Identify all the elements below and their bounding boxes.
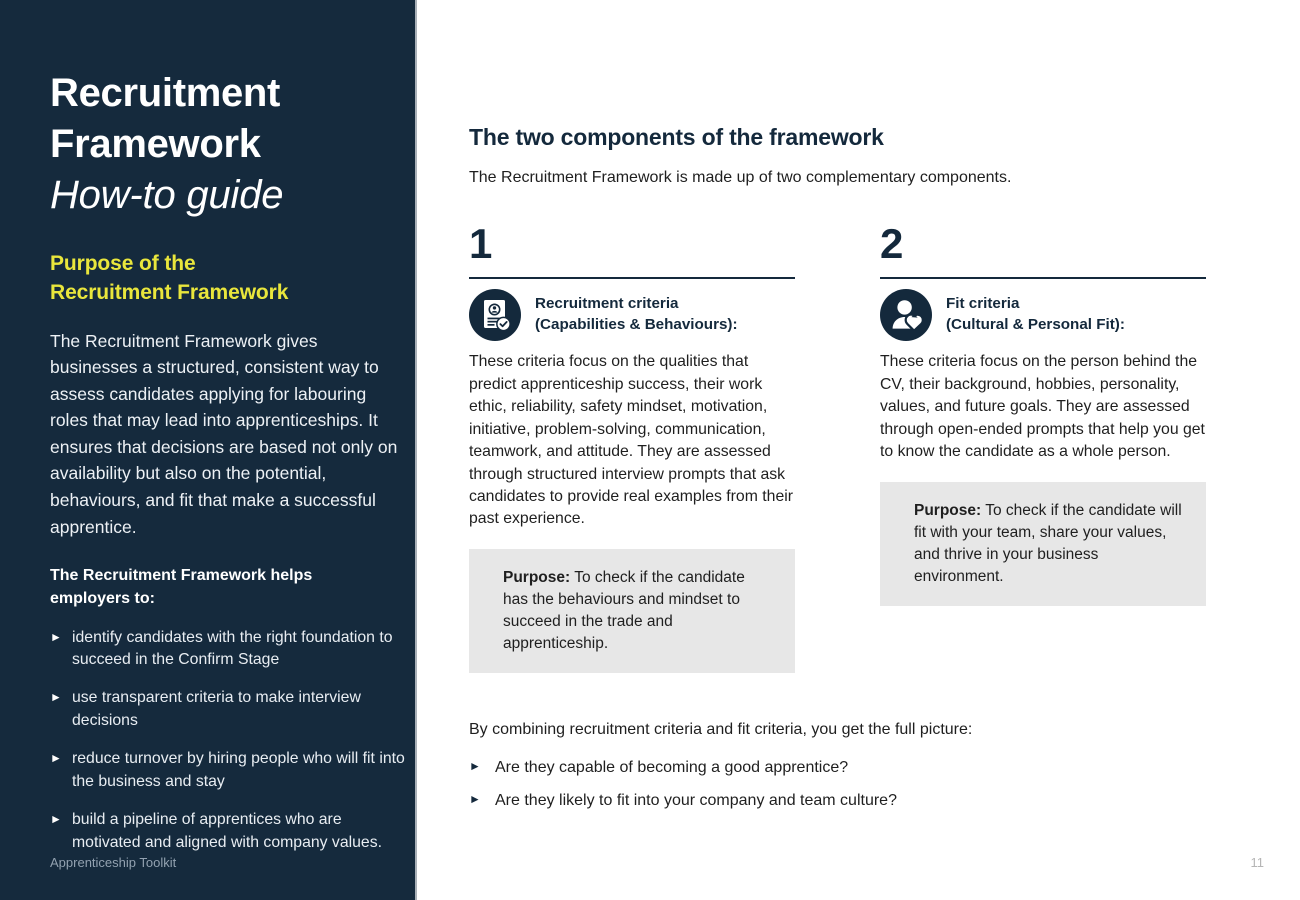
list-item-label: use transparent criteria to make intervi… [72, 687, 405, 732]
list-item: ► use transparent criteria to make inter… [50, 687, 405, 732]
triangle-bullet-icon: ► [50, 748, 72, 793]
sidebar-section-heading: Purpose of the Recruitment Framework [50, 250, 402, 308]
component-number: 2 [880, 223, 1206, 265]
sidebar-section-heading-line-1: Purpose of the [50, 250, 402, 279]
main-heading: The two components of the framework [469, 124, 1209, 151]
sidebar-subheading: The Recruitment Framework helps employer… [50, 564, 350, 610]
main-lead-paragraph: The Recruitment Framework is made up of … [469, 167, 1209, 189]
sidebar-bullet-list: ► identify candidates with the right fou… [50, 627, 402, 854]
title-line-2: Framework [50, 119, 402, 170]
list-item-label: Are they likely to fit into your company… [495, 790, 897, 812]
sidebar: Recruitment Framework How-to guide Purpo… [0, 0, 417, 900]
component-title: Fit criteria (Cultural & Personal Fit): [946, 289, 1125, 334]
triangle-bullet-icon: ► [469, 757, 495, 779]
sidebar-paragraph: The Recruitment Framework gives business… [50, 328, 398, 541]
closing-lead-paragraph: By combining recruitment criteria and fi… [469, 719, 1209, 741]
component-header: Recruitment criteria (Capabilities & Beh… [469, 289, 795, 341]
list-item-label: identify candidates with the right found… [72, 627, 405, 672]
purpose-box: Purpose: To check if the candidate will … [880, 482, 1206, 606]
component-title-line-2: (Capabilities & Behaviours): [535, 315, 738, 335]
page-number: 11 [1251, 855, 1265, 870]
component-title: Recruitment criteria (Capabilities & Beh… [535, 289, 738, 334]
list-item: ► Are they capable of becoming a good ap… [469, 757, 1209, 779]
triangle-bullet-icon: ► [50, 627, 72, 672]
triangle-bullet-icon: ► [50, 687, 72, 732]
divider-rule [880, 277, 1206, 279]
list-item-label: reduce turnover by hiring people who wil… [72, 748, 405, 793]
sidebar-footer-label: Apprenticeship Toolkit [50, 855, 176, 870]
purpose-label: Purpose: [503, 569, 570, 586]
component-number: 1 [469, 223, 795, 265]
sidebar-section-heading-line-2: Recruitment Framework [50, 279, 402, 308]
list-item: ► identify candidates with the right fou… [50, 627, 405, 672]
title-subtitle: How-to guide [50, 170, 402, 221]
component-header: Fit criteria (Cultural & Personal Fit): [880, 289, 1206, 341]
component-title-line-1: Recruitment criteria [535, 294, 738, 314]
list-item-label: Are they capable of becoming a good appr… [495, 757, 848, 779]
person-heart-icon [880, 289, 932, 341]
component-title-line-1: Fit criteria [946, 294, 1125, 314]
component-column-1: 1 [469, 223, 795, 672]
list-item: ► build a pipeline of apprentices who ar… [50, 809, 405, 854]
component-column-2: 2 Fit criteria [880, 223, 1206, 672]
id-document-check-icon [469, 289, 521, 341]
closing-bullet-list: ► Are they capable of becoming a good ap… [469, 757, 1209, 812]
list-item-label: build a pipeline of apprentices who are … [72, 809, 405, 854]
list-item: ► reduce turnover by hiring people who w… [50, 748, 405, 793]
triangle-bullet-icon: ► [469, 790, 495, 812]
divider-rule [469, 277, 795, 279]
document-page: Recruitment Framework How-to guide Purpo… [0, 0, 1300, 900]
component-title-line-2: (Cultural & Personal Fit): [946, 315, 1125, 335]
purpose-box: Purpose: To check if the candidate has t… [469, 549, 795, 673]
closing-section: By combining recruitment criteria and fi… [469, 719, 1209, 812]
main-content: The two components of the framework The … [417, 0, 1300, 900]
components-columns: 1 [469, 223, 1209, 672]
list-item: ► Are they likely to fit into your compa… [469, 790, 1209, 812]
triangle-bullet-icon: ► [50, 809, 72, 854]
title-line-1: Recruitment [50, 68, 402, 119]
purpose-label: Purpose: [914, 502, 981, 519]
component-body-text: These criteria focus on the person behin… [880, 351, 1206, 463]
component-body-text: These criteria focus on the qualities th… [469, 351, 795, 530]
page-title: Recruitment Framework How-to guide [50, 68, 402, 222]
